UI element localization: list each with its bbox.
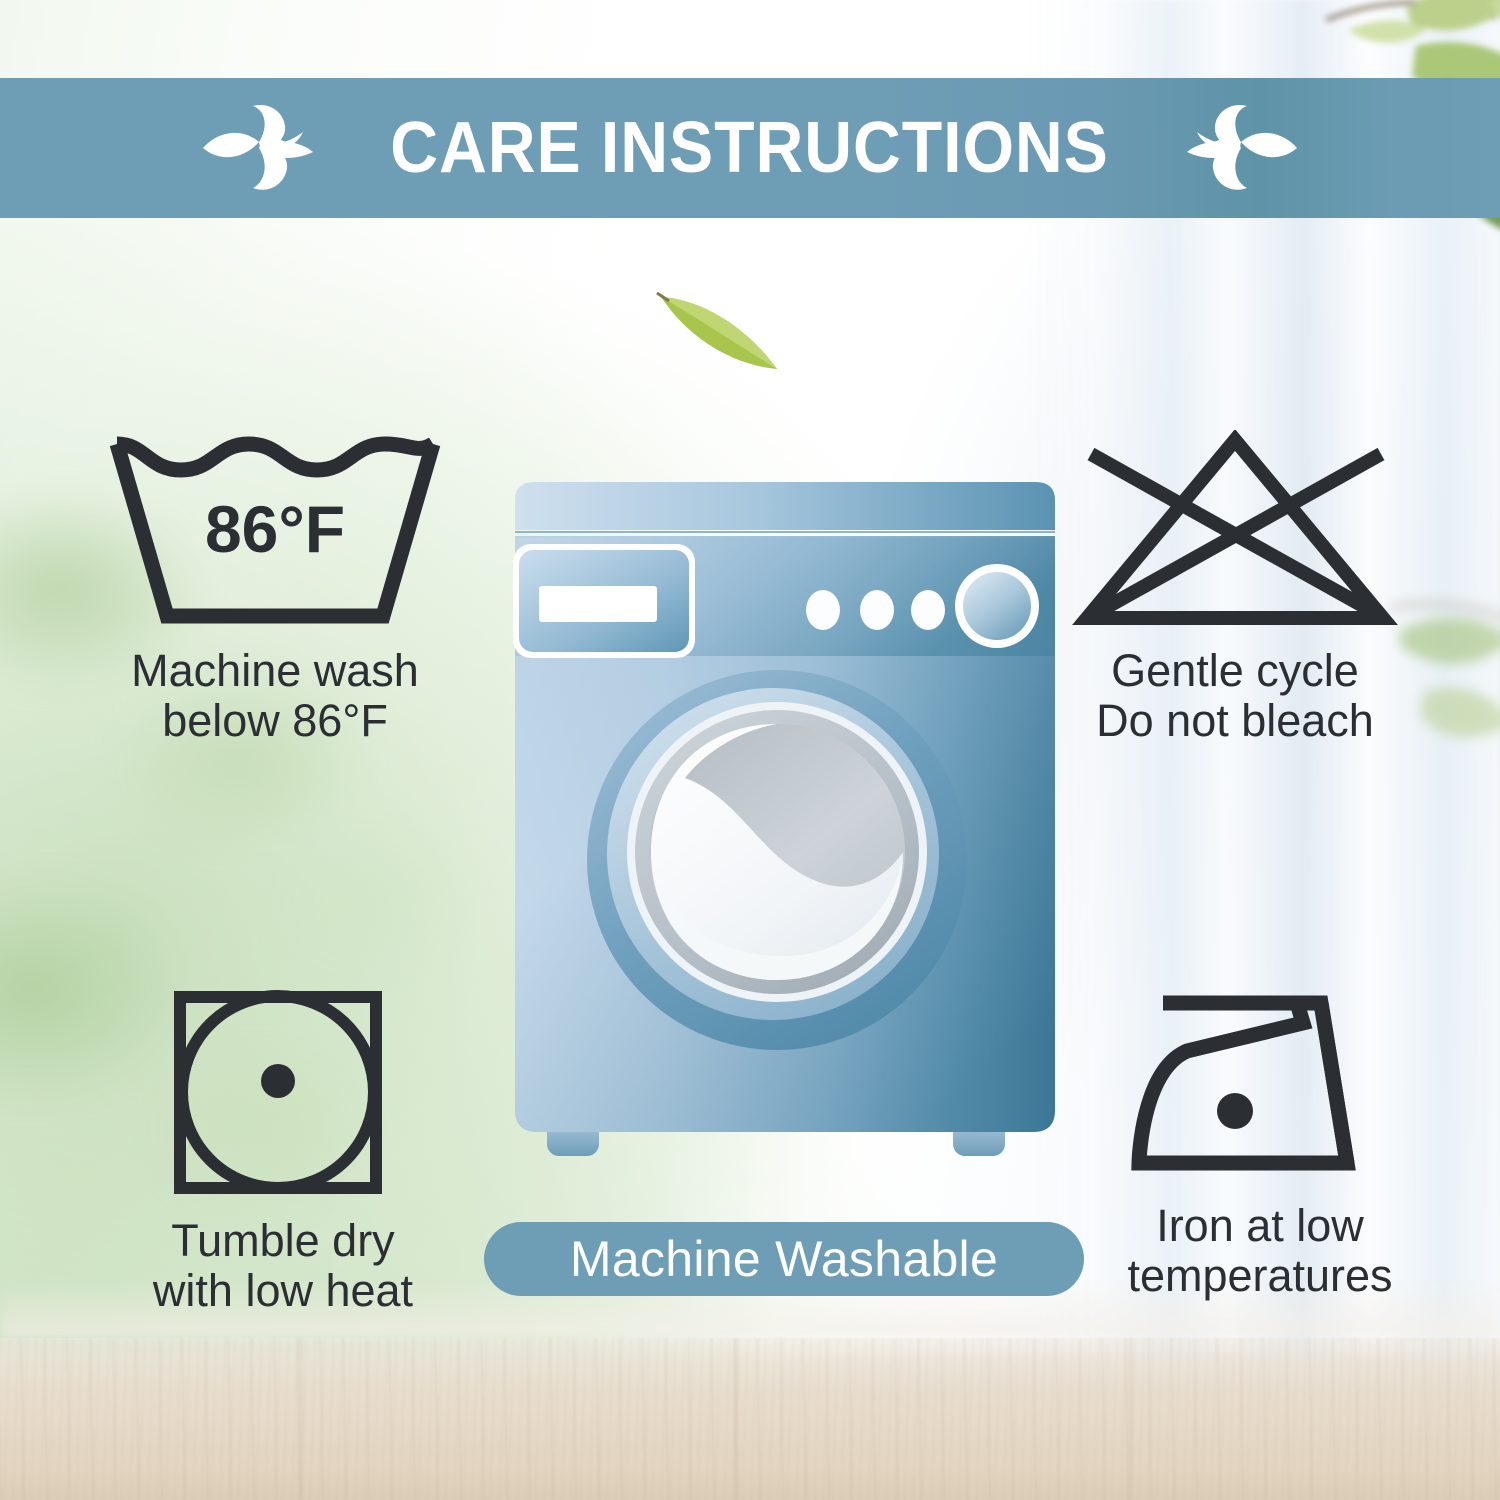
- page-title: CARE INSTRUCTIONS: [391, 112, 1110, 184]
- washer-door[interactable]: [587, 670, 967, 1050]
- fleur-de-lis-right-icon: [1183, 102, 1303, 194]
- caption-iron: Iron at low temperatures: [1127, 1201, 1392, 1302]
- caption-line-2: with low heat: [153, 1266, 413, 1316]
- wooden-table-surface: [0, 1338, 1500, 1500]
- washer-top-lid: [515, 482, 1055, 530]
- badge-label: Machine Washable: [570, 1230, 998, 1288]
- iron-one-dot-icon: [1125, 985, 1395, 1185]
- header-banner: CARE INSTRUCTIONS: [0, 78, 1500, 218]
- wood-grain-texture: [0, 1338, 1500, 1500]
- caption-line-1: Machine wash: [131, 646, 419, 696]
- wash-tub-icon: 86°F: [105, 430, 445, 630]
- care-icon-iron-low: Iron at low temperatures: [1040, 985, 1480, 1302]
- wash-temperature-label: 86°F: [205, 492, 345, 566]
- wood-plank-seam: [1130, 1338, 1132, 1500]
- care-icon-do-not-bleach: Gentle cycle Do not bleach: [1000, 430, 1470, 747]
- program-dial[interactable]: [955, 564, 1039, 648]
- care-icon-machine-wash: 86°F Machine wash below 86°F: [45, 430, 505, 747]
- floating-leaf-icon: [655, 283, 785, 383]
- caption-tumble-dry: Tumble dry with low heat: [153, 1216, 413, 1317]
- control-indicator-dots[interactable]: [806, 590, 945, 630]
- care-instructions-graphic: CARE INSTRUCTIONS 86°F Machine wash belo…: [0, 0, 1500, 1500]
- care-icon-tumble-dry-low: Tumble dry with low heat: [58, 985, 508, 1317]
- washing-machine-illustration: [505, 480, 1065, 1180]
- caption-line-1: Gentle cycle: [1096, 646, 1374, 696]
- tumble-dry-square-circle-dot-icon: [168, 985, 398, 1200]
- caption-machine-wash: Machine wash below 86°F: [131, 646, 419, 747]
- detergent-drawer[interactable]: [513, 544, 695, 658]
- caption-line-2: below 86°F: [131, 696, 419, 746]
- caption-line-1: Tumble dry: [153, 1216, 413, 1266]
- caption-line-1: Iron at low: [1127, 1201, 1392, 1251]
- caption-line-2: temperatures: [1127, 1251, 1392, 1301]
- wood-plank-seam: [735, 1338, 737, 1500]
- wood-plank-seam: [300, 1338, 302, 1500]
- fleur-de-lis-left-icon: [197, 102, 317, 194]
- caption-line-2: Do not bleach: [1096, 696, 1374, 746]
- caption-do-not-bleach: Gentle cycle Do not bleach: [1096, 646, 1374, 747]
- triangle-crossed-out-icon: [1065, 430, 1405, 630]
- machine-washable-badge: Machine Washable: [484, 1222, 1084, 1296]
